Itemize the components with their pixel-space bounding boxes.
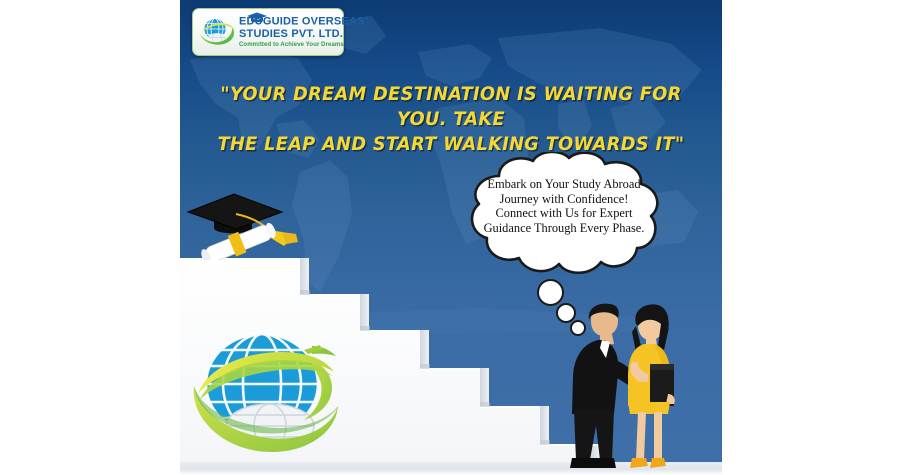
poster-canvas: EDUGUIDE OVERSEAS® STUDIES PVT. LTD. Com… [0,0,900,475]
bubble-text: Embark on Your Study Abroad Journey with… [483,177,645,235]
registered-mark: ® [365,16,370,22]
businessman-and-businesswoman-handshake [558,302,692,475]
logo-line-2: STUDIES PVT. LTD. [239,29,369,40]
logo-tagline: Committed to Achieve Your Dreams [239,42,369,48]
globe-swoosh-logo [197,12,237,52]
graduation-cap-with-diploma [178,188,318,260]
businesswoman-figure [628,304,675,468]
page-title: "YOUR DREAM DESTINATION IS WAITING FOR Y… [204,82,699,157]
large-globe-emblem [186,322,348,474]
headline-line-1: "YOUR DREAM DESTINATION IS WAITING FOR Y… [204,82,699,132]
thought-bubble: Embark on Your Study Abroad Journey with… [455,152,671,277]
graduation-cap-icon [245,11,269,25]
company-logo: EDUGUIDE OVERSEAS® STUDIES PVT. LTD. Com… [192,8,344,56]
